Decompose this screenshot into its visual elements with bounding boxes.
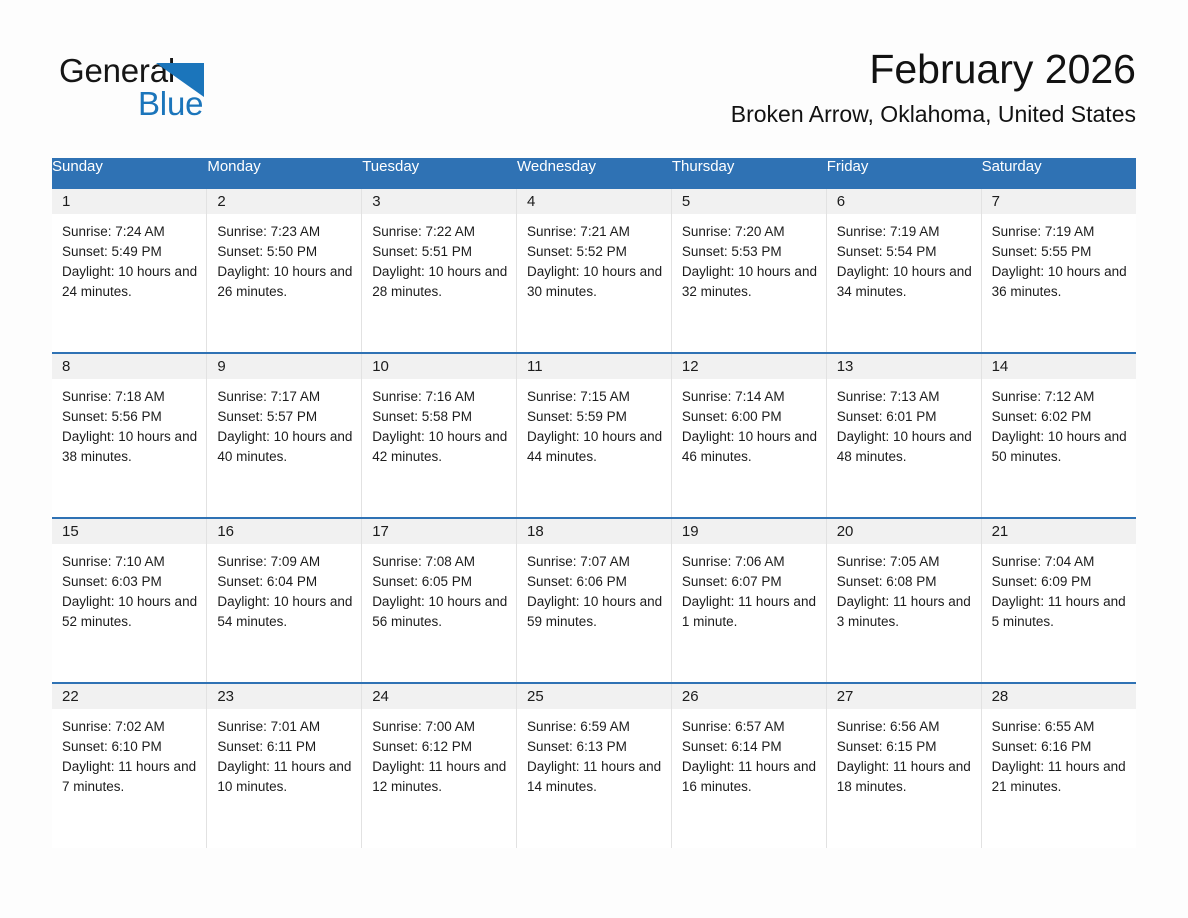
day-details: Sunrise: 7:09 AMSunset: 6:04 PMDaylight:…	[207, 544, 361, 632]
sunset-text: Sunset: 6:16 PM	[992, 737, 1128, 757]
sunrise-text: Sunrise: 6:56 AM	[837, 717, 973, 737]
sunrise-text: Sunrise: 7:23 AM	[217, 222, 353, 242]
sunrise-sunset-calendar: Sunday Monday Tuesday Wednesday Thursday…	[52, 158, 1136, 848]
sunrise-text: Sunrise: 7:22 AM	[372, 222, 508, 242]
daylight-text: Daylight: 10 hours and 50 minutes.	[992, 427, 1128, 467]
day-number: 23	[207, 684, 361, 709]
day-number: 4	[517, 189, 671, 214]
day-number: 18	[517, 519, 671, 544]
daylight-text: Daylight: 10 hours and 44 minutes.	[527, 427, 663, 467]
sunrise-text: Sunrise: 7:00 AM	[372, 717, 508, 737]
location-subtitle: Broken Arrow, Oklahoma, United States	[731, 98, 1136, 130]
day-number: 28	[982, 684, 1136, 709]
calendar-day-cell[interactable]: 14Sunrise: 7:12 AMSunset: 6:02 PMDayligh…	[981, 353, 1136, 518]
calendar-day-cell[interactable]: 17Sunrise: 7:08 AMSunset: 6:05 PMDayligh…	[362, 518, 517, 683]
sunrise-text: Sunrise: 7:20 AM	[682, 222, 818, 242]
sunrise-text: Sunrise: 7:16 AM	[372, 387, 508, 407]
calendar-day-cell[interactable]: 12Sunrise: 7:14 AMSunset: 6:00 PMDayligh…	[671, 353, 826, 518]
day-details: Sunrise: 7:23 AMSunset: 5:50 PMDaylight:…	[207, 214, 361, 302]
sunset-text: Sunset: 5:57 PM	[217, 407, 353, 427]
daylight-text: Daylight: 11 hours and 18 minutes.	[837, 757, 973, 797]
daylight-text: Daylight: 10 hours and 26 minutes.	[217, 262, 353, 302]
calendar-day-cell[interactable]: 19Sunrise: 7:06 AMSunset: 6:07 PMDayligh…	[671, 518, 826, 683]
daylight-text: Daylight: 11 hours and 12 minutes.	[372, 757, 508, 797]
daylight-text: Daylight: 10 hours and 54 minutes.	[217, 592, 353, 632]
sunrise-text: Sunrise: 7:17 AM	[217, 387, 353, 407]
daylight-text: Daylight: 10 hours and 46 minutes.	[682, 427, 818, 467]
daylight-text: Daylight: 10 hours and 38 minutes.	[62, 427, 198, 467]
daylight-text: Daylight: 10 hours and 34 minutes.	[837, 262, 973, 302]
sunset-text: Sunset: 5:54 PM	[837, 242, 973, 262]
day-details: Sunrise: 7:05 AMSunset: 6:08 PMDaylight:…	[827, 544, 981, 632]
weekday-header-sunday: Sunday	[52, 158, 207, 188]
day-details: Sunrise: 7:02 AMSunset: 6:10 PMDaylight:…	[52, 709, 206, 797]
sunset-text: Sunset: 6:08 PM	[837, 572, 973, 592]
sunset-text: Sunset: 5:49 PM	[62, 242, 198, 262]
sunset-text: Sunset: 6:07 PM	[682, 572, 818, 592]
day-number: 25	[517, 684, 671, 709]
calendar-day-cell[interactable]: 24Sunrise: 7:00 AMSunset: 6:12 PMDayligh…	[362, 683, 517, 848]
daylight-text: Daylight: 10 hours and 42 minutes.	[372, 427, 508, 467]
sunset-text: Sunset: 6:13 PM	[527, 737, 663, 757]
day-number: 17	[362, 519, 516, 544]
day-number: 13	[827, 354, 981, 379]
sunset-text: Sunset: 6:02 PM	[992, 407, 1128, 427]
brand-logo[interactable]: General Blue	[59, 52, 319, 132]
day-number: 24	[362, 684, 516, 709]
sunrise-text: Sunrise: 7:02 AM	[62, 717, 198, 737]
sunrise-text: Sunrise: 7:07 AM	[527, 552, 663, 572]
daylight-text: Daylight: 10 hours and 59 minutes.	[527, 592, 663, 632]
sunrise-text: Sunrise: 6:57 AM	[682, 717, 818, 737]
sunset-text: Sunset: 6:06 PM	[527, 572, 663, 592]
day-number: 5	[672, 189, 826, 214]
calendar-week-row: 15Sunrise: 7:10 AMSunset: 6:03 PMDayligh…	[52, 518, 1136, 683]
daylight-text: Daylight: 11 hours and 3 minutes.	[837, 592, 973, 632]
daylight-text: Daylight: 10 hours and 56 minutes.	[372, 592, 508, 632]
day-details: Sunrise: 7:04 AMSunset: 6:09 PMDaylight:…	[982, 544, 1136, 632]
calendar-day-cell[interactable]: 9Sunrise: 7:17 AMSunset: 5:57 PMDaylight…	[207, 353, 362, 518]
day-details: Sunrise: 7:15 AMSunset: 5:59 PMDaylight:…	[517, 379, 671, 467]
day-details: Sunrise: 7:18 AMSunset: 5:56 PMDaylight:…	[52, 379, 206, 467]
sunrise-text: Sunrise: 6:55 AM	[992, 717, 1128, 737]
day-number: 6	[827, 189, 981, 214]
day-number: 20	[827, 519, 981, 544]
weekday-header-row: Sunday Monday Tuesday Wednesday Thursday…	[52, 158, 1136, 188]
day-number: 19	[672, 519, 826, 544]
calendar-day-cell[interactable]: 7Sunrise: 7:19 AMSunset: 5:55 PMDaylight…	[981, 188, 1136, 353]
calendar-day-cell[interactable]: 13Sunrise: 7:13 AMSunset: 6:01 PMDayligh…	[826, 353, 981, 518]
sunrise-text: Sunrise: 7:19 AM	[837, 222, 973, 242]
sunrise-text: Sunrise: 7:08 AM	[372, 552, 508, 572]
day-number: 2	[207, 189, 361, 214]
day-number: 27	[827, 684, 981, 709]
day-number: 11	[517, 354, 671, 379]
calendar-day-cell[interactable]: 18Sunrise: 7:07 AMSunset: 6:06 PMDayligh…	[517, 518, 672, 683]
calendar-day-cell[interactable]: 27Sunrise: 6:56 AMSunset: 6:15 PMDayligh…	[826, 683, 981, 848]
calendar-day-cell[interactable]: 2Sunrise: 7:23 AMSunset: 5:50 PMDaylight…	[207, 188, 362, 353]
sunset-text: Sunset: 5:56 PM	[62, 407, 198, 427]
calendar-day-cell[interactable]: 11Sunrise: 7:15 AMSunset: 5:59 PMDayligh…	[517, 353, 672, 518]
day-details: Sunrise: 7:16 AMSunset: 5:58 PMDaylight:…	[362, 379, 516, 467]
calendar-day-cell[interactable]: 20Sunrise: 7:05 AMSunset: 6:08 PMDayligh…	[826, 518, 981, 683]
calendar-day-cell[interactable]: 26Sunrise: 6:57 AMSunset: 6:14 PMDayligh…	[671, 683, 826, 848]
sunset-text: Sunset: 6:09 PM	[992, 572, 1128, 592]
day-details: Sunrise: 7:08 AMSunset: 6:05 PMDaylight:…	[362, 544, 516, 632]
day-details: Sunrise: 7:14 AMSunset: 6:00 PMDaylight:…	[672, 379, 826, 467]
day-details: Sunrise: 6:55 AMSunset: 6:16 PMDaylight:…	[982, 709, 1136, 797]
page-title: February 2026	[731, 44, 1136, 94]
sunrise-text: Sunrise: 7:19 AM	[992, 222, 1128, 242]
calendar-day-cell[interactable]: 22Sunrise: 7:02 AMSunset: 6:10 PMDayligh…	[52, 683, 207, 848]
day-details: Sunrise: 7:01 AMSunset: 6:11 PMDaylight:…	[207, 709, 361, 797]
weekday-header-friday: Friday	[826, 158, 981, 188]
sunset-text: Sunset: 6:03 PM	[62, 572, 198, 592]
day-details: Sunrise: 7:12 AMSunset: 6:02 PMDaylight:…	[982, 379, 1136, 467]
daylight-text: Daylight: 10 hours and 40 minutes.	[217, 427, 353, 467]
calendar-week-row: 8Sunrise: 7:18 AMSunset: 5:56 PMDaylight…	[52, 353, 1136, 518]
sunrise-text: Sunrise: 6:59 AM	[527, 717, 663, 737]
daylight-text: Daylight: 10 hours and 24 minutes.	[62, 262, 198, 302]
day-details: Sunrise: 6:59 AMSunset: 6:13 PMDaylight:…	[517, 709, 671, 797]
day-details: Sunrise: 7:21 AMSunset: 5:52 PMDaylight:…	[517, 214, 671, 302]
weekday-header-monday: Monday	[207, 158, 362, 188]
sunset-text: Sunset: 6:04 PM	[217, 572, 353, 592]
daylight-text: Daylight: 10 hours and 32 minutes.	[682, 262, 818, 302]
daylight-text: Daylight: 11 hours and 14 minutes.	[527, 757, 663, 797]
daylight-text: Daylight: 10 hours and 36 minutes.	[992, 262, 1128, 302]
calendar-day-cell[interactable]: 10Sunrise: 7:16 AMSunset: 5:58 PMDayligh…	[362, 353, 517, 518]
day-details: Sunrise: 7:10 AMSunset: 6:03 PMDaylight:…	[52, 544, 206, 632]
sunset-text: Sunset: 6:15 PM	[837, 737, 973, 757]
calendar-day-cell[interactable]: 21Sunrise: 7:04 AMSunset: 6:09 PMDayligh…	[981, 518, 1136, 683]
calendar-week-row: 22Sunrise: 7:02 AMSunset: 6:10 PMDayligh…	[52, 683, 1136, 848]
calendar-day-cell[interactable]: 15Sunrise: 7:10 AMSunset: 6:03 PMDayligh…	[52, 518, 207, 683]
day-details: Sunrise: 7:06 AMSunset: 6:07 PMDaylight:…	[672, 544, 826, 632]
daylight-text: Daylight: 10 hours and 30 minutes.	[527, 262, 663, 302]
sunset-text: Sunset: 6:10 PM	[62, 737, 198, 757]
daylight-text: Daylight: 11 hours and 21 minutes.	[992, 757, 1128, 797]
day-number: 10	[362, 354, 516, 379]
day-details: Sunrise: 7:24 AMSunset: 5:49 PMDaylight:…	[52, 214, 206, 302]
sunset-text: Sunset: 5:50 PM	[217, 242, 353, 262]
calendar-day-cell[interactable]: 16Sunrise: 7:09 AMSunset: 6:04 PMDayligh…	[207, 518, 362, 683]
daylight-text: Daylight: 11 hours and 7 minutes.	[62, 757, 198, 797]
title-block: February 2026 Broken Arrow, Oklahoma, Un…	[731, 44, 1136, 130]
sunset-text: Sunset: 5:52 PM	[527, 242, 663, 262]
sunset-text: Sunset: 5:51 PM	[372, 242, 508, 262]
calendar-day-cell[interactable]: 4Sunrise: 7:21 AMSunset: 5:52 PMDaylight…	[517, 188, 672, 353]
sunrise-text: Sunrise: 7:21 AM	[527, 222, 663, 242]
daylight-text: Daylight: 11 hours and 1 minute.	[682, 592, 818, 632]
day-details: Sunrise: 7:19 AMSunset: 5:54 PMDaylight:…	[827, 214, 981, 302]
day-details: Sunrise: 7:22 AMSunset: 5:51 PMDaylight:…	[362, 214, 516, 302]
sunset-text: Sunset: 6:05 PM	[372, 572, 508, 592]
day-details: Sunrise: 7:20 AMSunset: 5:53 PMDaylight:…	[672, 214, 826, 302]
calendar-day-cell[interactable]: 25Sunrise: 6:59 AMSunset: 6:13 PMDayligh…	[517, 683, 672, 848]
sunrise-text: Sunrise: 7:14 AM	[682, 387, 818, 407]
sunrise-text: Sunrise: 7:18 AM	[62, 387, 198, 407]
daylight-text: Daylight: 10 hours and 28 minutes.	[372, 262, 508, 302]
day-details: Sunrise: 7:13 AMSunset: 6:01 PMDaylight:…	[827, 379, 981, 467]
calendar-body: 1Sunrise: 7:24 AMSunset: 5:49 PMDaylight…	[52, 188, 1136, 848]
day-details: Sunrise: 7:17 AMSunset: 5:57 PMDaylight:…	[207, 379, 361, 467]
sunset-text: Sunset: 6:00 PM	[682, 407, 818, 427]
sunset-text: Sunset: 6:14 PM	[682, 737, 818, 757]
sunrise-text: Sunrise: 7:24 AM	[62, 222, 198, 242]
day-number: 12	[672, 354, 826, 379]
sunrise-text: Sunrise: 7:12 AM	[992, 387, 1128, 407]
sunrise-text: Sunrise: 7:15 AM	[527, 387, 663, 407]
day-number: 1	[52, 189, 206, 214]
calendar-day-cell[interactable]: 1Sunrise: 7:24 AMSunset: 5:49 PMDaylight…	[52, 188, 207, 353]
day-number: 9	[207, 354, 361, 379]
day-details: Sunrise: 6:56 AMSunset: 6:15 PMDaylight:…	[827, 709, 981, 797]
calendar-day-cell[interactable]: 5Sunrise: 7:20 AMSunset: 5:53 PMDaylight…	[671, 188, 826, 353]
sunset-text: Sunset: 5:53 PM	[682, 242, 818, 262]
calendar-page: General Blue February 2026 Broken Arrow,…	[0, 0, 1188, 918]
brand-name-blue: Blue	[138, 85, 203, 123]
daylight-text: Daylight: 11 hours and 5 minutes.	[992, 592, 1128, 632]
sunrise-text: Sunrise: 7:04 AM	[992, 552, 1128, 572]
sunrise-text: Sunrise: 7:13 AM	[837, 387, 973, 407]
day-details: Sunrise: 7:07 AMSunset: 6:06 PMDaylight:…	[517, 544, 671, 632]
day-number: 16	[207, 519, 361, 544]
page-header: General Blue February 2026 Broken Arrow,…	[52, 44, 1136, 144]
day-number: 26	[672, 684, 826, 709]
weekday-header-saturday: Saturday	[981, 158, 1136, 188]
sunset-text: Sunset: 5:55 PM	[992, 242, 1128, 262]
day-number: 15	[52, 519, 206, 544]
sunset-text: Sunset: 5:59 PM	[527, 407, 663, 427]
sunrise-text: Sunrise: 7:09 AM	[217, 552, 353, 572]
daylight-text: Daylight: 10 hours and 48 minutes.	[837, 427, 973, 467]
sunset-text: Sunset: 6:01 PM	[837, 407, 973, 427]
sunset-text: Sunset: 5:58 PM	[372, 407, 508, 427]
sunrise-text: Sunrise: 7:01 AM	[217, 717, 353, 737]
day-number: 22	[52, 684, 206, 709]
day-number: 7	[982, 189, 1136, 214]
calendar-day-cell[interactable]: 3Sunrise: 7:22 AMSunset: 5:51 PMDaylight…	[362, 188, 517, 353]
calendar-day-cell[interactable]: 6Sunrise: 7:19 AMSunset: 5:54 PMDaylight…	[826, 188, 981, 353]
calendar-week-row: 1Sunrise: 7:24 AMSunset: 5:49 PMDaylight…	[52, 188, 1136, 353]
daylight-text: Daylight: 10 hours and 52 minutes.	[62, 592, 198, 632]
sunrise-text: Sunrise: 7:06 AM	[682, 552, 818, 572]
day-number: 21	[982, 519, 1136, 544]
day-number: 3	[362, 189, 516, 214]
weekday-header-wednesday: Wednesday	[517, 158, 672, 188]
day-number: 8	[52, 354, 206, 379]
day-details: Sunrise: 6:57 AMSunset: 6:14 PMDaylight:…	[672, 709, 826, 797]
daylight-text: Daylight: 11 hours and 16 minutes.	[682, 757, 818, 797]
day-number: 14	[982, 354, 1136, 379]
calendar-day-cell[interactable]: 8Sunrise: 7:18 AMSunset: 5:56 PMDaylight…	[52, 353, 207, 518]
sunset-text: Sunset: 6:11 PM	[217, 737, 353, 757]
daylight-text: Daylight: 11 hours and 10 minutes.	[217, 757, 353, 797]
sunrise-text: Sunrise: 7:05 AM	[837, 552, 973, 572]
weekday-header-thursday: Thursday	[671, 158, 826, 188]
calendar-day-cell[interactable]: 23Sunrise: 7:01 AMSunset: 6:11 PMDayligh…	[207, 683, 362, 848]
day-details: Sunrise: 7:00 AMSunset: 6:12 PMDaylight:…	[362, 709, 516, 797]
weekday-header-tuesday: Tuesday	[362, 158, 517, 188]
calendar-day-cell[interactable]: 28Sunrise: 6:55 AMSunset: 6:16 PMDayligh…	[981, 683, 1136, 848]
sunrise-text: Sunrise: 7:10 AM	[62, 552, 198, 572]
day-details: Sunrise: 7:19 AMSunset: 5:55 PMDaylight:…	[982, 214, 1136, 302]
sunset-text: Sunset: 6:12 PM	[372, 737, 508, 757]
